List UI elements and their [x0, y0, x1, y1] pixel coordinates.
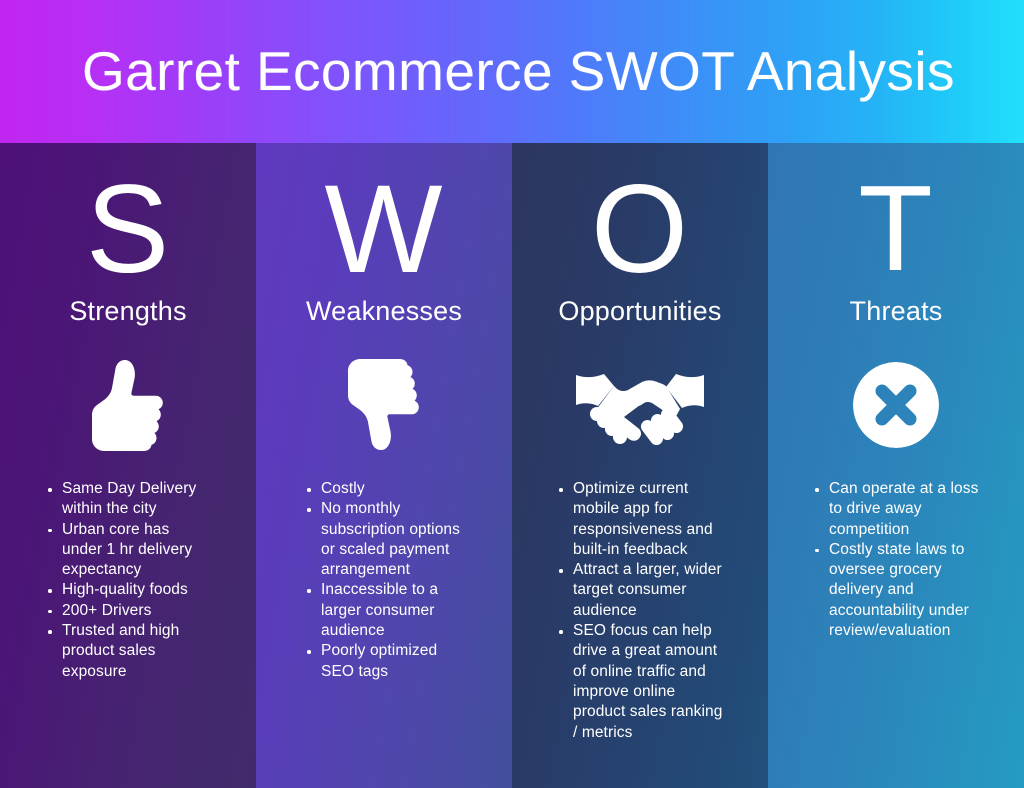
caption-opportunities: Opportunities — [512, 298, 768, 325]
swot-infographic: Garret Ecommerce SWOT Analysis S Strengt… — [0, 0, 1024, 788]
list-item: High-quality foods — [45, 580, 207, 600]
bullet-list-weaknesses: Costly No monthly subscription options o… — [304, 479, 472, 682]
list-item: No monthly subscription options or scale… — [304, 499, 472, 580]
letter-o: O — [512, 167, 768, 292]
list-item: Poorly optimized SEO tags — [304, 641, 472, 682]
list-item: Attract a larger, wider target consumer … — [556, 560, 726, 621]
column-strengths: S Strengths Same Day Delivery within the… — [0, 143, 256, 788]
list-item: 200+ Drivers — [45, 601, 207, 621]
list-item: Inaccessible to a larger consumer audien… — [304, 580, 472, 641]
caption-weaknesses: Weaknesses — [256, 298, 512, 325]
circle-x-icon — [768, 355, 1024, 455]
list-item: Same Day Delivery within the city — [45, 479, 207, 520]
list-item: Can operate at a loss to drive away comp… — [812, 479, 988, 540]
thumbs-down-icon — [256, 355, 512, 455]
page-title: Garret Ecommerce SWOT Analysis — [82, 44, 955, 99]
handshake-icon — [512, 355, 768, 455]
caption-strengths: Strengths — [0, 298, 256, 325]
list-item: SEO focus can help drive a great amount … — [556, 621, 726, 743]
column-opportunities: O Opportunities — [512, 143, 768, 788]
list-item: Costly — [304, 479, 472, 499]
letter-w: W — [256, 167, 512, 292]
list-item: Trusted and high product sales exposure — [45, 621, 207, 682]
letter-t: T — [768, 167, 1024, 289]
list-item: Optimize current mobile app for responsi… — [556, 479, 726, 560]
list-item: Costly state laws to oversee grocery del… — [812, 540, 988, 641]
header-banner: Garret Ecommerce SWOT Analysis — [0, 0, 1024, 143]
letter-s: S — [0, 167, 256, 292]
column-threats: T Threats — [768, 143, 1024, 788]
bullet-list-threats: Can operate at a loss to drive away comp… — [812, 479, 988, 641]
thumbs-up-icon — [0, 355, 256, 455]
caption-threats: Threats — [768, 298, 1024, 325]
column-weaknesses: W Weaknesses Costly No monthly subscript… — [256, 143, 512, 788]
bullet-list-opportunities: Optimize current mobile app for responsi… — [556, 479, 726, 743]
bullet-list-strengths: Same Day Delivery within the city Urban … — [45, 479, 207, 682]
swot-columns: S Strengths Same Day Delivery within the… — [0, 143, 1024, 788]
list-item: Urban core has under 1 hr delivery expec… — [45, 520, 207, 581]
